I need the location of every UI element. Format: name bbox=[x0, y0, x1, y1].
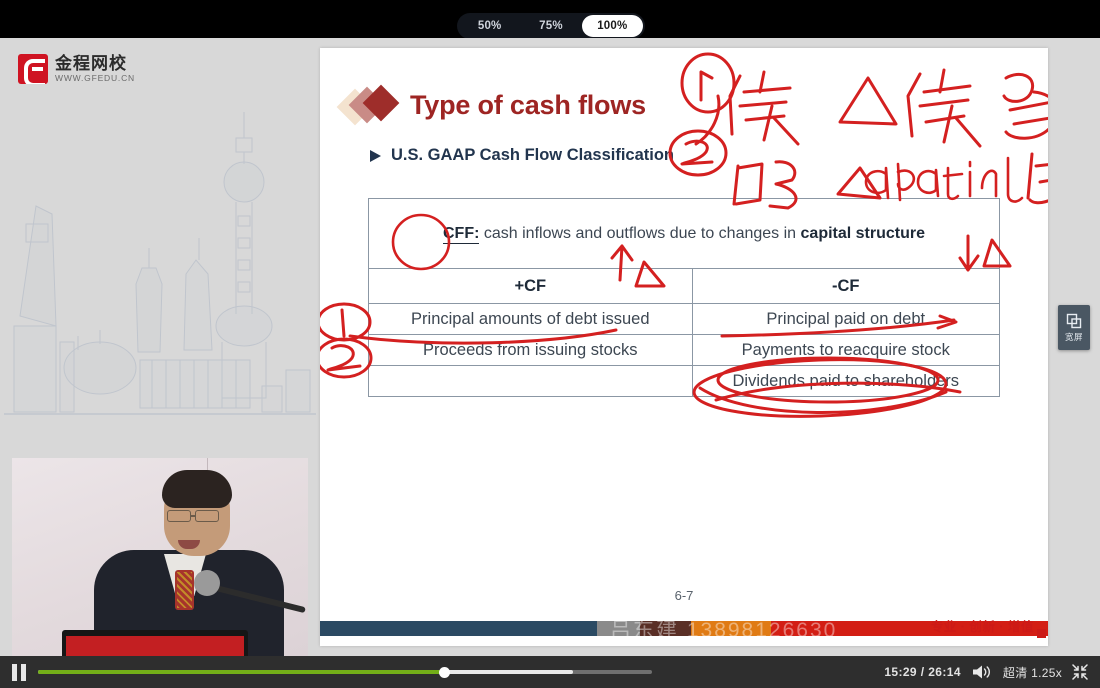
podium-front-panel bbox=[66, 636, 244, 656]
widescreen-label: 宽屏 bbox=[1065, 331, 1083, 343]
eyeglasses-bridge bbox=[191, 515, 195, 517]
progress-bar[interactable] bbox=[38, 664, 874, 681]
microphone-icon bbox=[194, 570, 220, 596]
handwritten-note bbox=[1036, 162, 1048, 182]
eyeglasses-right bbox=[195, 510, 219, 522]
instructor-hair bbox=[162, 470, 232, 508]
table-row: Proceeds from issuing stocks Payments to… bbox=[369, 335, 1000, 366]
footer-color-1 bbox=[320, 621, 597, 636]
cff-definition-emphasis: capital structure bbox=[801, 225, 925, 242]
progress-handle[interactable] bbox=[439, 667, 450, 678]
cash-flow-table: CFF: cash inflows and outflows due to ch… bbox=[368, 198, 1000, 397]
instructor-video-feed[interactable] bbox=[12, 458, 308, 656]
pause-bar-right bbox=[21, 664, 26, 681]
zoom-option-100[interactable]: 100% bbox=[582, 15, 643, 37]
cff-term: CFF: bbox=[443, 225, 479, 244]
table-row-definition: CFF: cash inflows and outflows due to ch… bbox=[369, 199, 1000, 269]
fullscreen-button[interactable] bbox=[1072, 664, 1088, 680]
arrow-bullet-icon bbox=[370, 150, 381, 162]
column-header-positive-cf: +CF bbox=[369, 269, 693, 304]
progress-played bbox=[38, 670, 444, 674]
zoom-level-bar[interactable]: 50% 75% 100% bbox=[457, 13, 645, 39]
circled-two-row bbox=[320, 339, 371, 377]
circled-one-row bbox=[320, 304, 370, 340]
table-row: Dividends paid to shareholders bbox=[369, 366, 1000, 397]
player-content-area: 金程网校 WWW.GFEDU.CN bbox=[0, 38, 1100, 656]
brand-name: 金程网校 bbox=[55, 54, 135, 73]
cell-inflow-1: Principal amounts of debt issued bbox=[369, 304, 693, 335]
handwritten-amount bbox=[1004, 74, 1033, 101]
slide-title-row: Type of cash flows bbox=[342, 90, 646, 121]
volume-icon bbox=[971, 664, 993, 680]
player-control-bar[interactable]: 15:29 / 26:14 超清 1.25x bbox=[0, 656, 1100, 688]
footer-square-icon bbox=[1037, 629, 1046, 638]
left-panel: 金程网校 WWW.GFEDU.CN bbox=[0, 38, 320, 656]
slide-subtitle-row: U.S. GAAP Cash Flow Classification bbox=[370, 146, 674, 165]
volume-button[interactable] bbox=[971, 664, 993, 680]
eyeglasses-left bbox=[167, 510, 191, 522]
zoom-option-75[interactable]: 75% bbox=[520, 15, 581, 37]
skyline-watermark bbox=[0, 98, 320, 458]
instructor-tie bbox=[175, 570, 194, 610]
gfedu-logo-icon bbox=[18, 54, 48, 84]
handwritten-debt bbox=[730, 76, 740, 134]
exit-fullscreen-icon bbox=[1072, 664, 1088, 680]
video-player-page: 50% 75% 100% 金程网校 WWW.GFEDU.CN bbox=[0, 0, 1100, 688]
cff-definition-text: cash inflows and outflows due to changes… bbox=[479, 225, 800, 242]
handwritten-debt-2 bbox=[908, 74, 920, 136]
delta-capital bbox=[838, 168, 880, 198]
cell-outflow-1: Principal paid on debt bbox=[692, 304, 999, 335]
slide-title: Type of cash flows bbox=[410, 90, 646, 121]
brand-logo-text: 金程网校 WWW.GFEDU.CN bbox=[55, 54, 135, 84]
column-header-negative-cf: -CF bbox=[692, 269, 999, 304]
zoom-option-50[interactable]: 50% bbox=[459, 15, 520, 37]
cff-definition-cell: CFF: cash inflows and outflows due to ch… bbox=[369, 199, 1000, 269]
slide-page-number: 6-7 bbox=[320, 588, 1048, 603]
owner-watermark: 吕东建 13898126630 bbox=[610, 614, 837, 644]
cell-outflow-3: Dividends paid to shareholders bbox=[692, 366, 999, 397]
cell-outflow-2: Payments to reacquire stock bbox=[692, 335, 999, 366]
quality-speed-button[interactable]: 超清 1.25x bbox=[1003, 664, 1062, 681]
capital-text bbox=[866, 158, 1022, 201]
slide-subtitle: U.S. GAAP Cash Flow Classification bbox=[391, 146, 674, 165]
brand-url: WWW.GFEDU.CN bbox=[55, 73, 135, 84]
delta-debt bbox=[840, 78, 896, 124]
pause-bar-left bbox=[12, 664, 17, 681]
slide-tagline: 专业 · 创新 · 增值 bbox=[931, 616, 1034, 635]
table-header-row: +CF -CF bbox=[369, 269, 1000, 304]
table-row: Principal amounts of debt issued Princip… bbox=[369, 304, 1000, 335]
cell-inflow-3-empty bbox=[369, 366, 693, 397]
lecture-slide[interactable]: Type of cash flows U.S. GAAP Cash Flow C… bbox=[320, 48, 1048, 646]
pause-button[interactable] bbox=[12, 664, 28, 681]
cell-inflow-2: Proceeds from issuing stocks bbox=[369, 335, 693, 366]
widescreen-toggle-button[interactable]: 宽屏 bbox=[1058, 305, 1090, 350]
widescreen-icon bbox=[1066, 313, 1082, 329]
circled-two-top bbox=[670, 131, 726, 175]
circled-one-top bbox=[682, 54, 734, 112]
brand-logo[interactable]: 金程网校 WWW.GFEDU.CN bbox=[18, 54, 135, 84]
time-display: 15:29 / 26:14 bbox=[884, 665, 961, 679]
